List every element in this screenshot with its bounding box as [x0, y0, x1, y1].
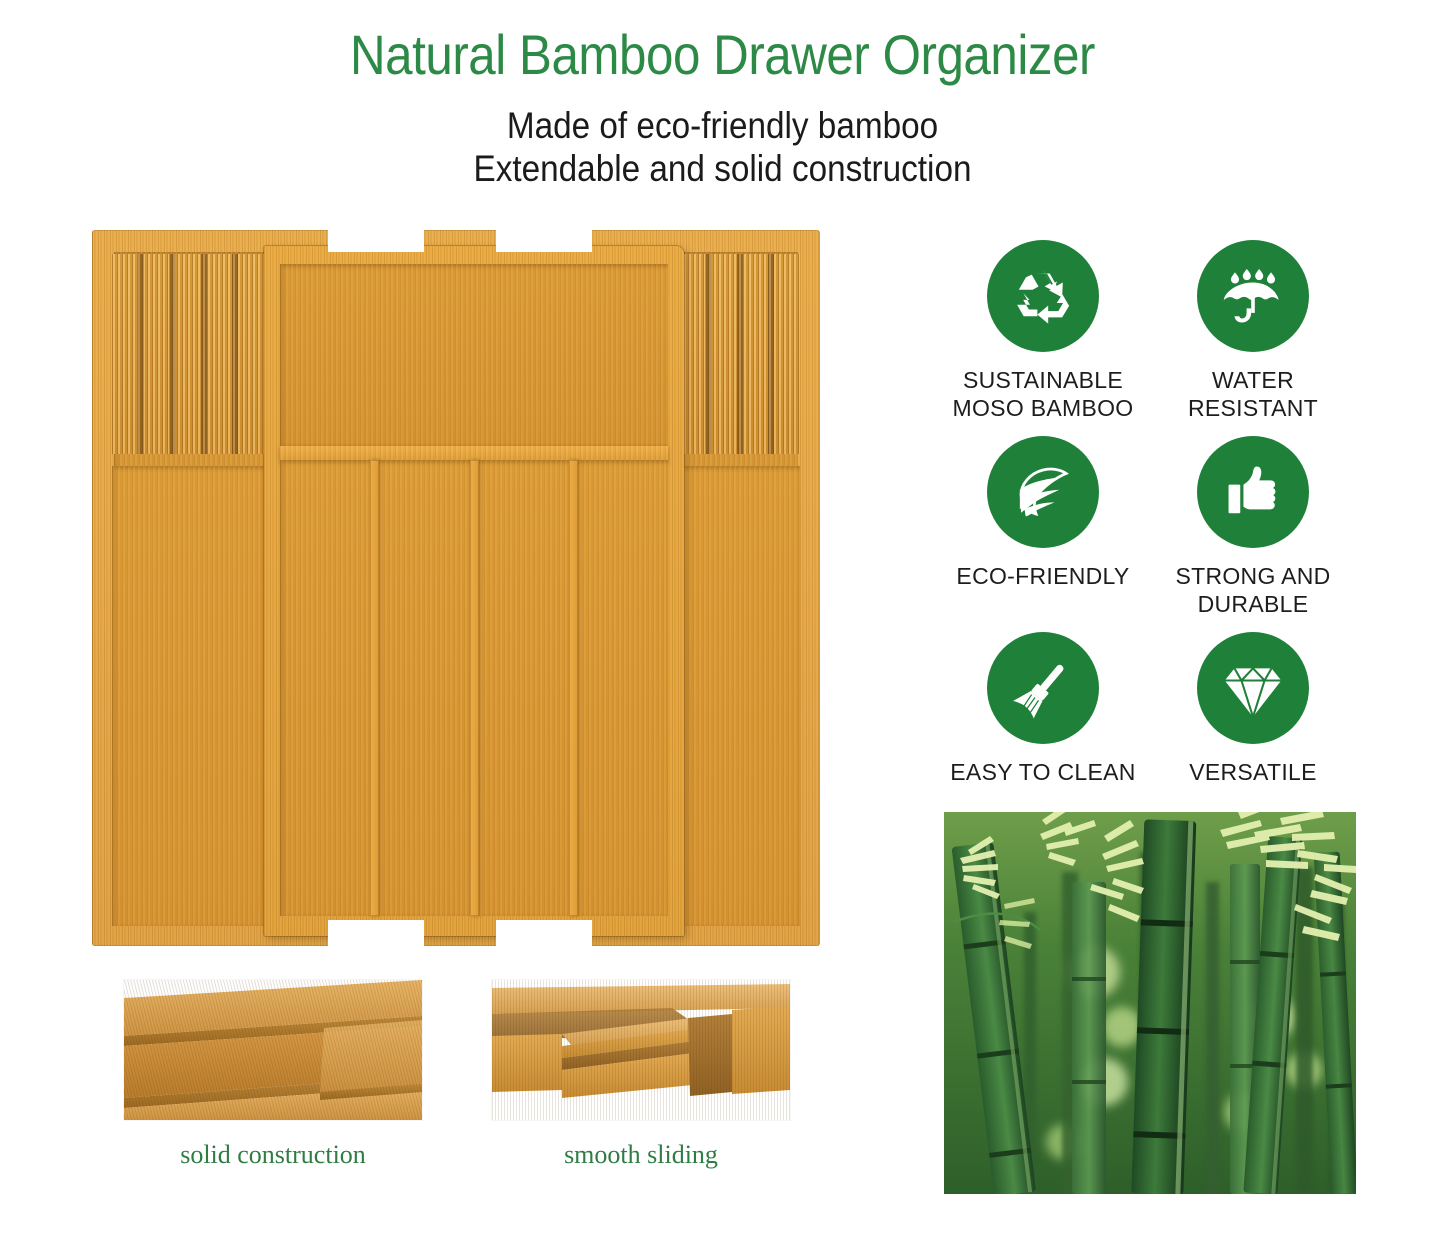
edge-notch: [328, 920, 424, 946]
compartment-divider: [569, 460, 578, 916]
compartment-divider: [370, 460, 379, 916]
cutlery-compartment: [479, 460, 569, 916]
bamboo-forest-illustration: [944, 812, 1356, 1194]
knife-slot: [711, 254, 743, 454]
feature-label: WATER RESISTANT: [1188, 366, 1318, 422]
cutlery-compartment: [379, 460, 469, 916]
knife-slot: [743, 254, 775, 454]
detail-photo-solid-construction: [124, 980, 422, 1120]
feature-label: SUSTAINABLE MOSO BAMBOO: [953, 366, 1134, 422]
extendable-insert-tray: [264, 246, 684, 936]
bamboo-forest-photo: [944, 812, 1356, 1194]
feature-label: EASY TO CLEAN: [950, 758, 1135, 786]
feature-label: STRONG AND DURABLE: [1175, 562, 1330, 618]
insert-cutlery-compartments: [280, 460, 668, 916]
leaf-icon: [987, 436, 1099, 548]
feature-eco-friendly: ECO-FRIENDLY: [938, 436, 1148, 632]
edge-notch: [496, 920, 592, 946]
knife-slot-block-left: [112, 254, 264, 454]
diamond-icon: [1197, 632, 1309, 744]
detail-caption-smooth-sliding: smooth sliding: [492, 1140, 790, 1170]
feature-row: SUSTAINABLE MOSO BAMBOO: [938, 240, 1358, 436]
knife-slot: [207, 254, 239, 454]
edge-notch: [496, 230, 592, 252]
detail-caption-solid-construction: solid construction: [124, 1140, 422, 1170]
feature-sustainable-moso-bamboo: SUSTAINABLE MOSO BAMBOO: [938, 240, 1148, 436]
knife-slot: [680, 254, 712, 454]
broom-icon: [987, 632, 1099, 744]
feature-strong-and-durable: STRONG AND DURABLE: [1148, 436, 1358, 632]
feature-row: EASY TO CLEAN: [938, 632, 1358, 802]
feature-icon-grid: SUSTAINABLE MOSO BAMBOO: [938, 240, 1358, 802]
outer-compartment-left: [112, 466, 264, 926]
tray-outer-frame: [92, 230, 820, 946]
umbrella-icon: [1197, 240, 1309, 352]
page-title: Natural Bamboo Drawer Organizer: [87, 22, 1359, 87]
feature-label: VERSATILE: [1189, 758, 1317, 786]
cutlery-compartment: [280, 460, 370, 916]
product-image: [88, 222, 824, 950]
knife-slot: [144, 254, 176, 454]
knife-slot: [774, 254, 800, 454]
knife-slot: [175, 254, 207, 454]
feature-row: ECO-FRIENDLY STRONG AND DURABLE: [938, 436, 1358, 632]
bamboo-divider-closeup: [124, 980, 422, 1120]
edge-notch: [328, 230, 424, 252]
knife-slot: [238, 254, 264, 454]
insert-upper-compartment: [280, 264, 668, 446]
compartment-divider: [470, 460, 479, 916]
knife-slot: [112, 254, 144, 454]
thumbs-up-icon: [1197, 436, 1309, 548]
infographic-page: Natural Bamboo Drawer Organizer Made of …: [0, 0, 1445, 1235]
sliding-rail-closeup: [492, 980, 790, 1120]
feature-versatile: VERSATILE: [1148, 632, 1358, 802]
feature-water-resistant: WATER RESISTANT: [1148, 240, 1358, 436]
cutlery-compartment: [578, 460, 668, 916]
detail-photo-smooth-sliding: [492, 980, 790, 1120]
subtitle-line-2: Extendable and solid construction: [72, 148, 1373, 190]
feature-label: ECO-FRIENDLY: [956, 562, 1129, 590]
feature-easy-to-clean: EASY TO CLEAN: [938, 632, 1148, 802]
recycle-icon: [987, 240, 1099, 352]
subtitle-line-1: Made of eco-friendly bamboo: [72, 105, 1373, 147]
